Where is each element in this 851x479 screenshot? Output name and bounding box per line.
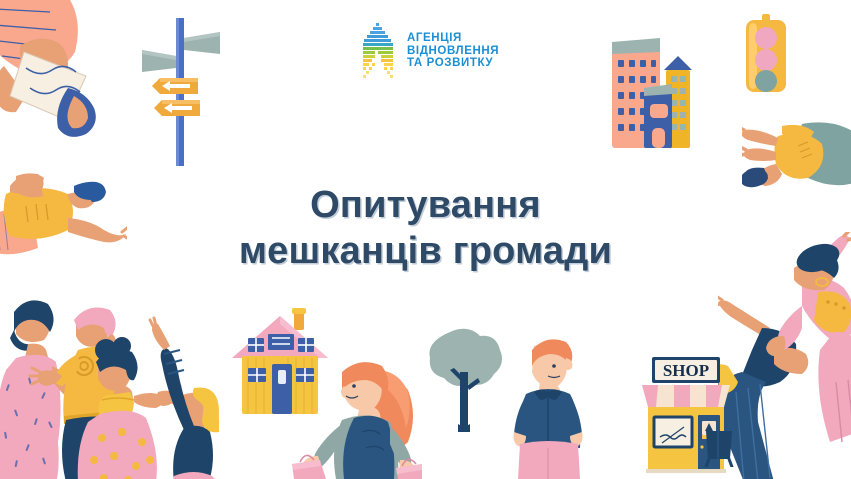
group-of-people [0, 292, 219, 479]
tree [424, 328, 504, 440]
sandwich-board-sign [702, 425, 736, 467]
city-buildings [608, 28, 723, 148]
logo-line-3: ТА РОЗВИТКУ [407, 57, 499, 70]
pixel-arch-logo-mark [357, 23, 399, 79]
signpost [140, 18, 220, 168]
logo-line-1: АГЕНЦІЯ [407, 32, 499, 45]
title-line-1: Опитування [0, 182, 851, 228]
poster-canvas: АГЕНЦІЯ ВІДНОВЛЕННЯ ТА РОЗВИТКУ [0, 0, 851, 479]
organization-logo: АГЕНЦІЯ ВІДНОВЛЕННЯ ТА РОЗВИТКУ [357, 22, 507, 80]
logo-wordmark: АГЕНЦІЯ ВІДНОВЛЕННЯ ТА РОЗВИТКУ [407, 32, 499, 71]
person-standing [508, 338, 588, 479]
dancing-people [718, 232, 851, 479]
person-reading-document [0, 0, 130, 152]
shop-sign-text: SHOP [663, 361, 709, 380]
person-with-shopping-bags [292, 352, 422, 479]
logo-line-2: ВІДНОВЛЕННЯ [407, 45, 499, 58]
